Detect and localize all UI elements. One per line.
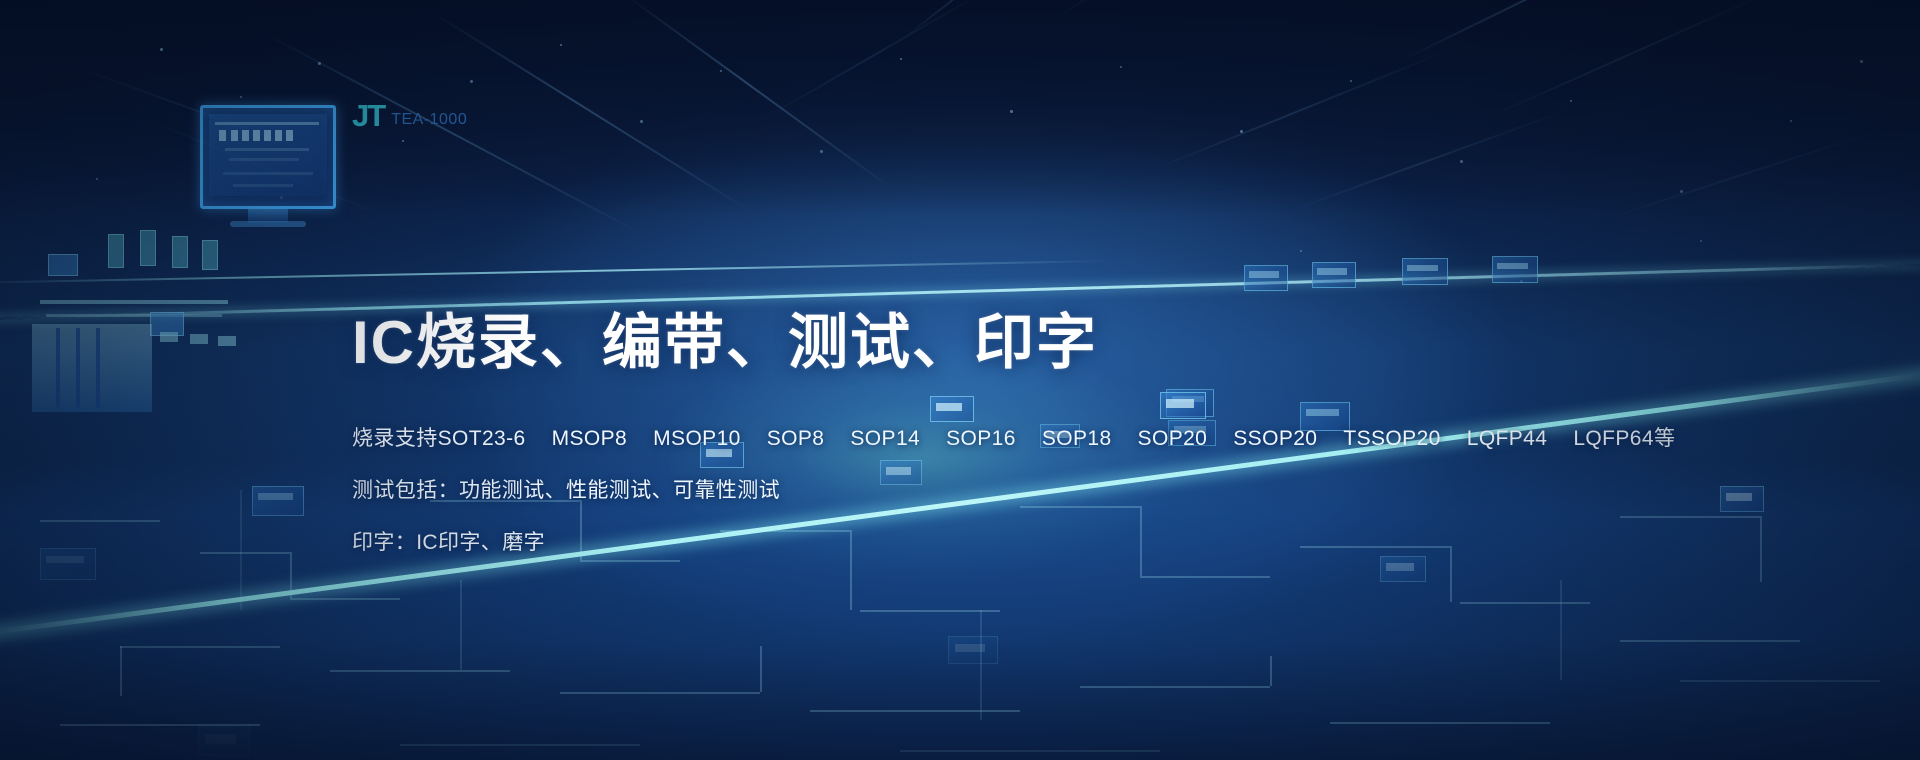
monitor-base	[230, 221, 306, 227]
brand-logo: JT TEA-1000	[352, 100, 467, 131]
testing-services-line: 测试包括：功能测试、性能测试、可靠性测试	[352, 474, 1652, 504]
shelf-unit	[1244, 265, 1288, 291]
package-label: SOP8	[767, 427, 825, 451]
shelf-unit	[1312, 262, 1356, 288]
shelf-unit	[1402, 258, 1448, 285]
ic-services-banner: JT TEA-1000	[0, 0, 1920, 760]
marking-services-line: 印字：IC印字、磨字	[352, 526, 1652, 556]
package-label: MSOP10	[653, 427, 741, 451]
shelf-unit	[1492, 256, 1538, 283]
banner-content: IC烧录、编带、测试、印字 烧录支持SOT23-6 MSOP8 MSOP10 S…	[352, 310, 1652, 556]
package-label: SOP16	[946, 427, 1016, 451]
equipment-monitor	[200, 105, 336, 209]
industrial-machine	[10, 228, 250, 438]
package-label: LQFP64等	[1573, 422, 1675, 452]
package-label: TSSOP20	[1343, 427, 1440, 451]
brand-model-text: TEA-1000	[391, 112, 467, 131]
monitor-screen	[209, 114, 327, 196]
brand-mark-text: JT	[352, 100, 384, 131]
package-label: SOP18	[1042, 427, 1112, 451]
monitor-frame	[200, 105, 336, 209]
package-label: MSOP8	[552, 427, 628, 451]
package-label: SOP14	[850, 427, 920, 451]
page-title: IC烧录、编带、测试、印字	[352, 310, 1652, 376]
burn-in-lead-label: 烧录支持SOT23-6	[352, 422, 526, 452]
package-label: SSOP20	[1233, 427, 1317, 451]
package-label: LQFP44	[1467, 427, 1548, 451]
burn-in-package-list: 烧录支持SOT23-6 MSOP8 MSOP10 SOP8 SOP14 SOP1…	[352, 422, 1652, 452]
package-label: SOP20	[1138, 427, 1208, 451]
